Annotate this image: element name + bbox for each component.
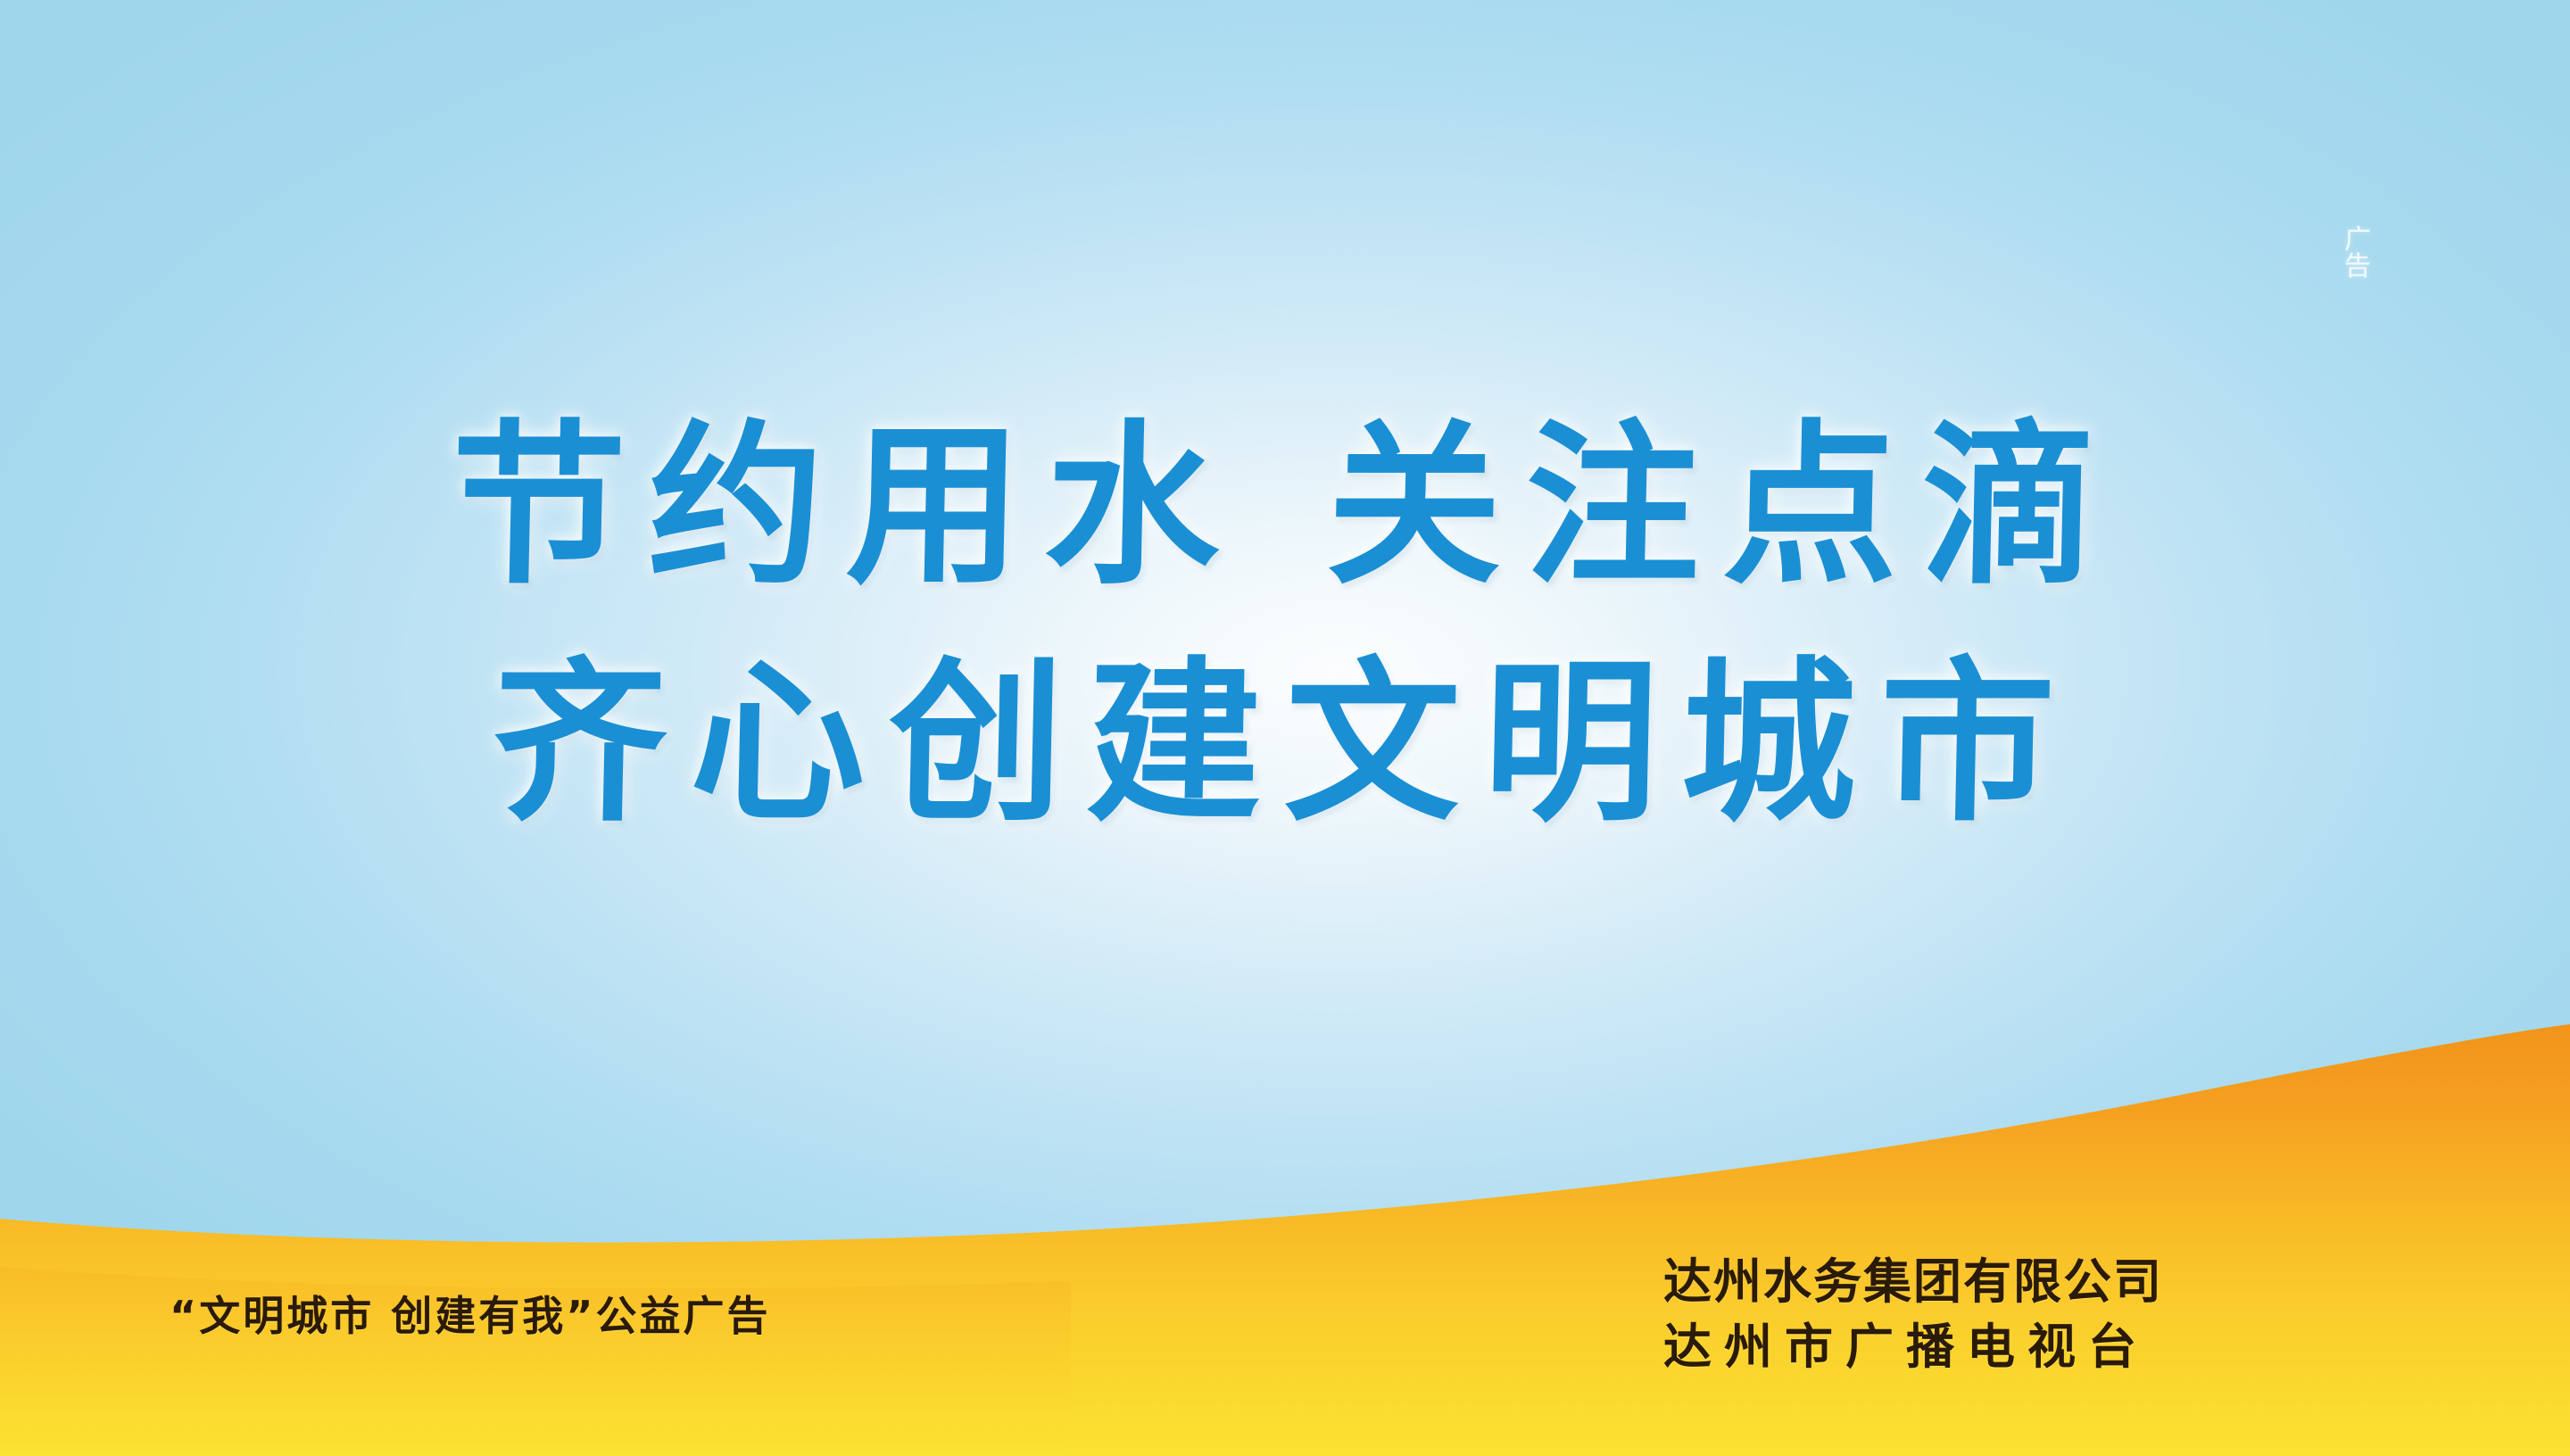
slogan-line-1: 节约用水 关注点滴 bbox=[0, 403, 2570, 610]
slogan-line-2: 齐心创建文明城市 bbox=[0, 641, 2570, 848]
advertisement-marker-label: 广告 bbox=[2327, 225, 2374, 278]
sponsor-credits: 达州水务集团有限公司 达州市广播电视台 bbox=[1663, 1249, 2163, 1379]
advertisement-canvas: 广告 节约用水 关注点滴 齐心创建文明城市 “文明城市 创建有我”公益广告 达州… bbox=[0, 0, 2570, 1456]
campaign-caption: “文明城市 创建有我”公益广告 bbox=[170, 1291, 770, 1341]
wave-band-shape bbox=[0, 1024, 2570, 1456]
slogan-headline: 节约用水 关注点滴 齐心创建文明城市 bbox=[0, 403, 2570, 848]
sponsor-line-1: 达州水务集团有限公司 bbox=[1663, 1249, 2163, 1314]
sponsor-line-2: 达州市广播电视台 bbox=[1663, 1314, 2163, 1379]
